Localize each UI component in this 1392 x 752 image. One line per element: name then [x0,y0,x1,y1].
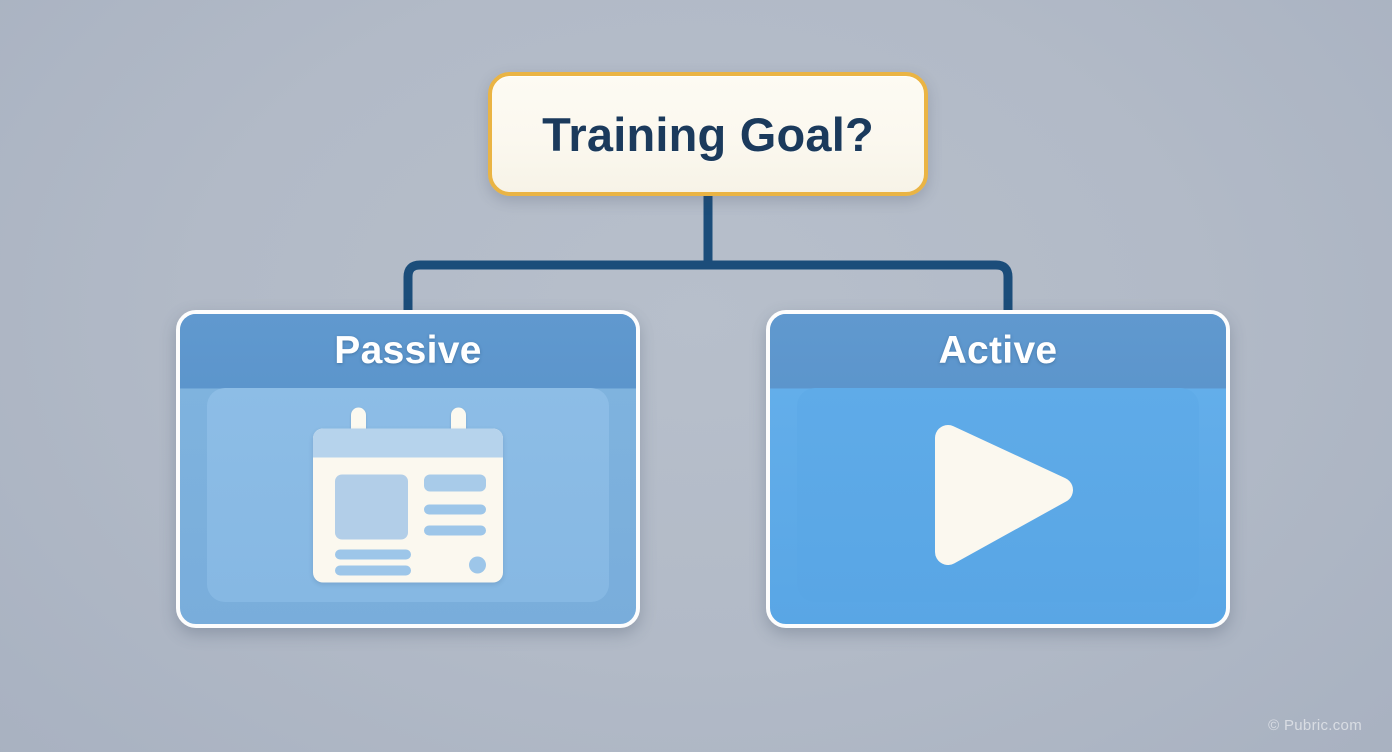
branch-card-passive[interactable]: Passive [176,310,640,628]
root-decision-node[interactable]: Training Goal? [488,72,928,196]
branch-card-passive-panel [207,388,609,602]
branch-card-active-header: Active [770,314,1226,388]
article-icon-dot [469,557,486,574]
branch-card-active[interactable]: Active [766,310,1230,628]
article-icon-text-line [424,475,486,492]
article-icon-text-line [335,550,411,560]
branch-card-active-label: Active [939,329,1058,373]
play-icon [918,420,1078,570]
article-icon-header-band [313,429,503,458]
article-icon-sheet [313,429,503,583]
branch-card-passive-header: Passive [180,314,636,388]
branch-card-active-body [770,388,1226,624]
root-node-label: Training Goal? [542,111,874,158]
article-icon-text-line [335,566,411,576]
diagram-canvas: Training Goal? Passive [0,0,1392,752]
watermark: © Pubric.com [1268,717,1362,734]
article-icon [313,408,503,583]
connector-branch-bar [408,265,1008,310]
article-icon-thumbnail [335,475,408,540]
article-icon-text-line [424,505,486,515]
branch-card-active-panel [797,388,1199,602]
article-icon-text-line [424,526,486,536]
branch-card-passive-label: Passive [334,329,481,373]
branch-card-passive-body [180,388,636,624]
